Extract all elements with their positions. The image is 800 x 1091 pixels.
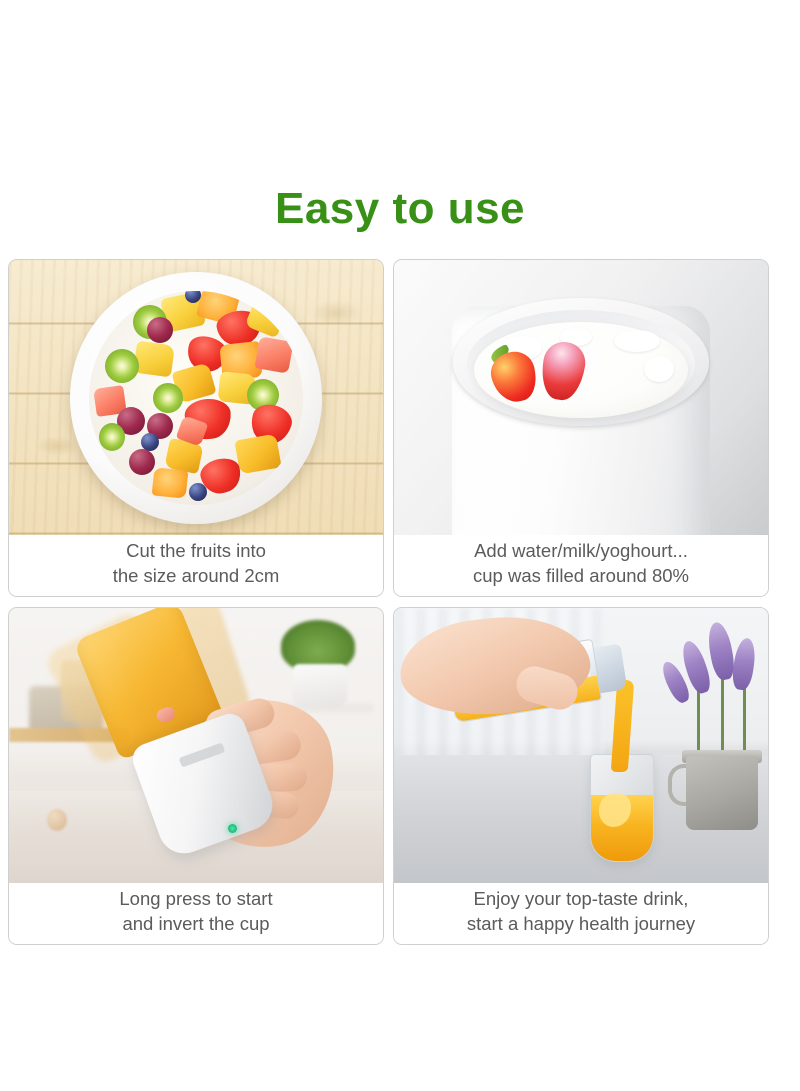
step-card-2: Add water/milk/yoghourt... cup was fille… xyxy=(393,259,769,597)
cup-filled-with-yoghurt-and-strawberries-image xyxy=(394,260,768,535)
bowl-interior xyxy=(89,291,303,505)
step-1-photo xyxy=(9,260,383,535)
white-bowl xyxy=(70,272,322,524)
step-3-caption: Long press to start and invert the cup xyxy=(9,883,383,944)
potted-plant-pot xyxy=(293,664,347,708)
step-card-4: Enjoy your top-taste drink, start a happ… xyxy=(393,607,769,945)
hand-holding-inverted-blender-image xyxy=(9,608,383,883)
power-indicator-led xyxy=(228,824,237,833)
grapefruit-piece xyxy=(254,336,293,373)
step-2-caption: Add water/milk/yoghourt... cup was fille… xyxy=(394,535,768,596)
step-3-photo xyxy=(9,608,383,883)
grape xyxy=(147,317,173,343)
product-infographic-page: Easy to use xyxy=(0,0,800,1091)
step-4-caption: Enjoy your top-taste drink, start a happ… xyxy=(394,883,768,944)
yoghurt-splash xyxy=(614,330,660,352)
step-1-caption: Cut the fruits into the size around 2cm xyxy=(9,535,383,596)
orange-piece xyxy=(152,467,189,498)
grape xyxy=(129,449,155,475)
step-card-1: Cut the fruits into the size around 2cm xyxy=(8,259,384,597)
page-title-container: Easy to use xyxy=(0,186,800,232)
lavender-pot xyxy=(686,756,758,830)
pineapple-piece xyxy=(133,340,175,377)
step-2-photo xyxy=(394,260,768,535)
page-title: Easy to use xyxy=(0,186,800,232)
step-4-photo xyxy=(394,608,768,883)
kitchen-egg xyxy=(47,809,67,831)
step-card-3: Long press to start and invert the cup xyxy=(8,607,384,945)
lavender-flower xyxy=(730,637,757,691)
kiwi-slice xyxy=(105,349,139,383)
mango-piece xyxy=(234,433,281,474)
kiwi-slice xyxy=(99,423,125,451)
yoghurt-splash xyxy=(644,356,674,382)
pouring-juice-into-glass-image xyxy=(394,608,768,883)
wood-knot xyxy=(309,300,363,326)
wood-knot xyxy=(35,436,79,456)
steps-grid: Cut the fruits into the size around 2cm xyxy=(8,259,792,945)
fruit-bowl-on-wooden-board-image xyxy=(9,260,383,535)
blueberry xyxy=(189,483,207,501)
kiwi-slice xyxy=(153,383,183,413)
